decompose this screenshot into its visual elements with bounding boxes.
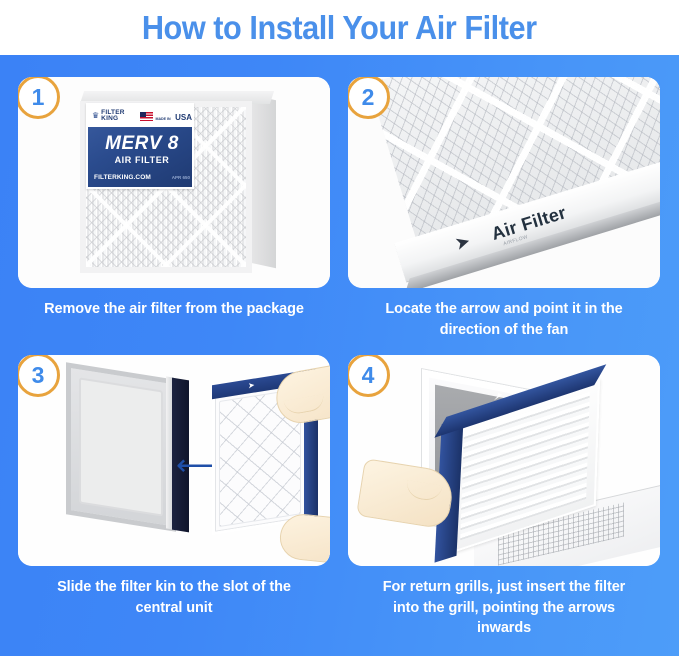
step-4-card: ➤ 4 xyxy=(348,355,660,566)
step-3-caption: Slide the filter kin to the slot of the … xyxy=(18,577,330,618)
crown-icon: ♛ xyxy=(92,112,99,120)
steps-grid: ♛ FILTER KING xyxy=(0,55,679,656)
step-3: ⟵ ➤ 3 xyxy=(18,355,330,645)
step-2-caption-line-1: Locate the arrow and point it in the xyxy=(348,299,660,320)
filter-arrow-marking-icon: ➤ xyxy=(248,380,262,390)
step-2-caption: Locate the arrow and point it in the dir… xyxy=(348,299,660,340)
made-in-usa-text: MADE IN USA xyxy=(155,107,192,125)
step-1: ♛ FILTER KING xyxy=(18,77,330,355)
step-2-caption-line-2: direction of the fan xyxy=(348,320,660,341)
title-bar: How to Install Your Air Filter xyxy=(0,0,679,55)
label-footer: FILTERKING.COM APR 650 xyxy=(94,174,190,181)
step-4-media: ➤ xyxy=(348,355,660,566)
step-4-caption-line-2: into the grill, pointing the arrows xyxy=(348,598,660,619)
infographic-root: How to Install Your Air Filter xyxy=(0,0,679,656)
step-1-card: ♛ FILTER KING xyxy=(18,77,330,288)
brand-website: FILTERKING.COM xyxy=(94,174,151,181)
step-1-caption: Remove the air filter from the package xyxy=(18,299,330,320)
air-filter-photo: ♛ FILTER KING xyxy=(70,91,286,276)
step-1-caption-line-1: Remove the air filter from the package xyxy=(18,299,330,320)
filter-corner-photo: ➤ Air Filter AIRFLOW xyxy=(348,77,660,288)
product-code: APR 650 xyxy=(172,175,190,180)
step-3-caption-line-2: central unit xyxy=(18,598,330,619)
step-2-media: ➤ Air Filter AIRFLOW xyxy=(348,77,660,288)
usa-flag-icon xyxy=(140,112,153,121)
filter-king-logo: ♛ FILTER KING xyxy=(92,110,125,123)
label-header: ♛ FILTER KING xyxy=(88,105,194,127)
merv-rating: MERV 8 xyxy=(88,133,194,155)
product-type: AIR FILTER xyxy=(88,155,194,165)
step-4-caption-line-3: inwards xyxy=(348,618,660,639)
step-2-card: ➤ Air Filter AIRFLOW 2 xyxy=(348,77,660,288)
steps-background: ♛ FILTER KING xyxy=(0,55,679,656)
filter-product-label: ♛ FILTER KING xyxy=(86,103,194,189)
step-1-media: ♛ FILTER KING xyxy=(18,77,330,288)
central-unit-slot xyxy=(66,362,176,531)
page-title: How to Install Your Air Filter xyxy=(142,9,537,47)
step-2: ➤ Air Filter AIRFLOW 2 Locate the arrow … xyxy=(348,77,660,355)
made-in-label: MADE IN xyxy=(155,117,170,121)
step-3-card: ⟵ ➤ 3 xyxy=(18,355,330,566)
step-4: ➤ 4 For return grills, just insert the f… xyxy=(348,355,660,645)
country-label: USA xyxy=(175,113,192,122)
brand-name: FILTER KING xyxy=(101,110,124,123)
central-unit-inner xyxy=(79,377,163,516)
step-3-media: ⟵ ➤ xyxy=(18,355,330,566)
step-4-caption-line-1: For return grills, just insert the filte… xyxy=(348,577,660,598)
brand-line-2: KING xyxy=(101,115,118,122)
step-4-caption: For return grills, just insert the filte… xyxy=(348,577,660,639)
step-3-caption-line-1: Slide the filter kin to the slot of the xyxy=(18,577,330,598)
made-in-usa-badge: MADE IN USA xyxy=(140,107,192,125)
